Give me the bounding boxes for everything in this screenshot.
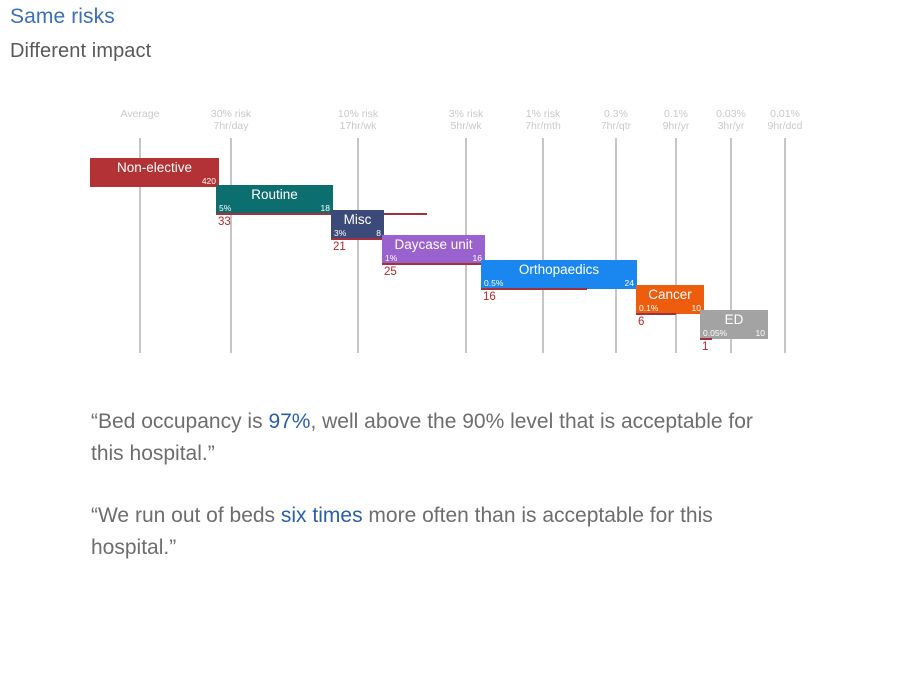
risk-impact-chart: Average30% risk 7hr/day10% risk 17hr/wk3… <box>0 100 900 360</box>
title-block: Same risks Different impact <box>10 4 151 64</box>
bar-value: 18 <box>321 203 330 213</box>
bar-underline-6 <box>700 338 712 340</box>
bar-label: Misc <box>331 212 384 228</box>
slide: Same risks Different impact Average30% r… <box>0 0 900 675</box>
axis-tick-label-8: 0.01% 9hr/dcd <box>740 108 830 132</box>
gridline-8 <box>784 138 786 353</box>
gridline-4 <box>542 138 544 353</box>
bar-label: Non-elective <box>90 160 219 176</box>
axis-tick-label-2: 10% risk 17hr/wk <box>313 108 403 132</box>
bar-value: 420 <box>202 176 216 186</box>
bar-orthopaedics[interactable]: Orthopaedics0.5%24 <box>481 260 637 289</box>
bar-misc[interactable]: Misc3%8 <box>331 210 384 239</box>
bar-risk-pct: 0.05% <box>703 328 727 338</box>
bar-risk-pct: 0.1% <box>639 303 658 313</box>
bar-shortfall-value: 25 <box>384 266 397 279</box>
quote-block: “Bed occupancy is 97%, well above the 90… <box>91 406 791 563</box>
bar-risk-pct: 1% <box>385 253 397 263</box>
bar-value: 8 <box>376 228 381 238</box>
axis-tick-label-0: Average <box>95 108 185 120</box>
quote-2-highlight: six times <box>281 504 363 527</box>
quote-1: “Bed occupancy is 97%, well above the 90… <box>91 406 791 469</box>
gridline-5 <box>615 138 617 353</box>
bar-risk-pct: 0.5% <box>484 278 503 288</box>
gridline-2 <box>357 138 359 353</box>
quote-1-before: “Bed occupancy is <box>91 410 268 433</box>
bar-risk-pct: 3% <box>334 228 346 238</box>
bar-shortfall-value: 6 <box>638 316 644 329</box>
bar-shortfall-value: 33 <box>218 216 231 229</box>
quote-1-highlight: 97% <box>268 410 310 433</box>
bar-value: 10 <box>756 328 765 338</box>
bar-underline-1 <box>216 213 427 215</box>
bar-risk-pct: 5% <box>219 203 231 213</box>
gridline-6 <box>675 138 677 353</box>
bar-daycase-unit[interactable]: Daycase unit1%16 <box>382 235 485 264</box>
bar-shortfall-value: 21 <box>333 241 346 254</box>
bar-label: Orthopaedics <box>481 262 637 278</box>
page-subtitle: Different impact <box>10 38 151 64</box>
bar-non-elective[interactable]: Non-elective420 <box>90 158 219 187</box>
quote-2-before: “We run out of beds <box>91 504 281 527</box>
bar-label: ED <box>700 312 768 328</box>
bar-value: 24 <box>625 278 634 288</box>
bar-ed[interactable]: ED0.05%10 <box>700 310 768 339</box>
bar-shortfall-value: 16 <box>483 291 496 304</box>
bar-cancer[interactable]: Cancer0.1%10 <box>636 285 704 314</box>
bar-label: Routine <box>216 187 333 203</box>
bar-underline-5 <box>636 313 676 315</box>
bar-routine[interactable]: Routine5%18 <box>216 185 333 214</box>
bar-shortfall-value: 1 <box>702 341 708 354</box>
quote-2: “We run out of beds six times more often… <box>91 500 791 563</box>
page-title: Same risks <box>10 4 151 30</box>
bar-underline-4 <box>481 288 587 290</box>
axis-tick-label-1: 30% risk 7hr/day <box>186 108 276 132</box>
bar-label: Daycase unit <box>382 237 485 253</box>
gridline-1 <box>230 138 232 353</box>
bar-label: Cancer <box>636 287 704 303</box>
